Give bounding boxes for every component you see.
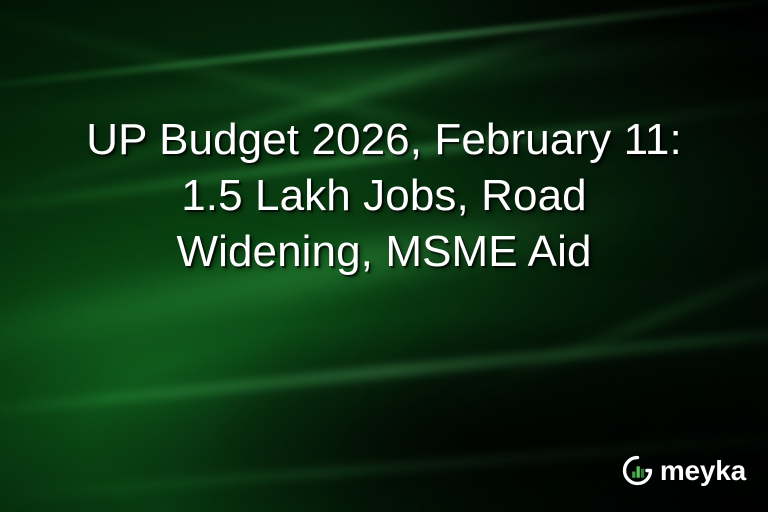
meyka-ring-bar-chart-icon [622, 455, 653, 486]
headline-line-2: 1.5 Lakh Jobs, Road [24, 168, 744, 224]
headline-line-3: Widening, MSME Aid [24, 224, 744, 280]
meyka-brand-name: meyka [660, 457, 746, 485]
banner-card: UP Budget 2026, February 11: 1.5 Lakh Jo… [0, 0, 768, 512]
headline: UP Budget 2026, February 11: 1.5 Lakh Jo… [0, 112, 768, 280]
meyka-logo[interactable]: meyka [622, 455, 746, 486]
headline-line-1: UP Budget 2026, February 11: [24, 112, 744, 168]
